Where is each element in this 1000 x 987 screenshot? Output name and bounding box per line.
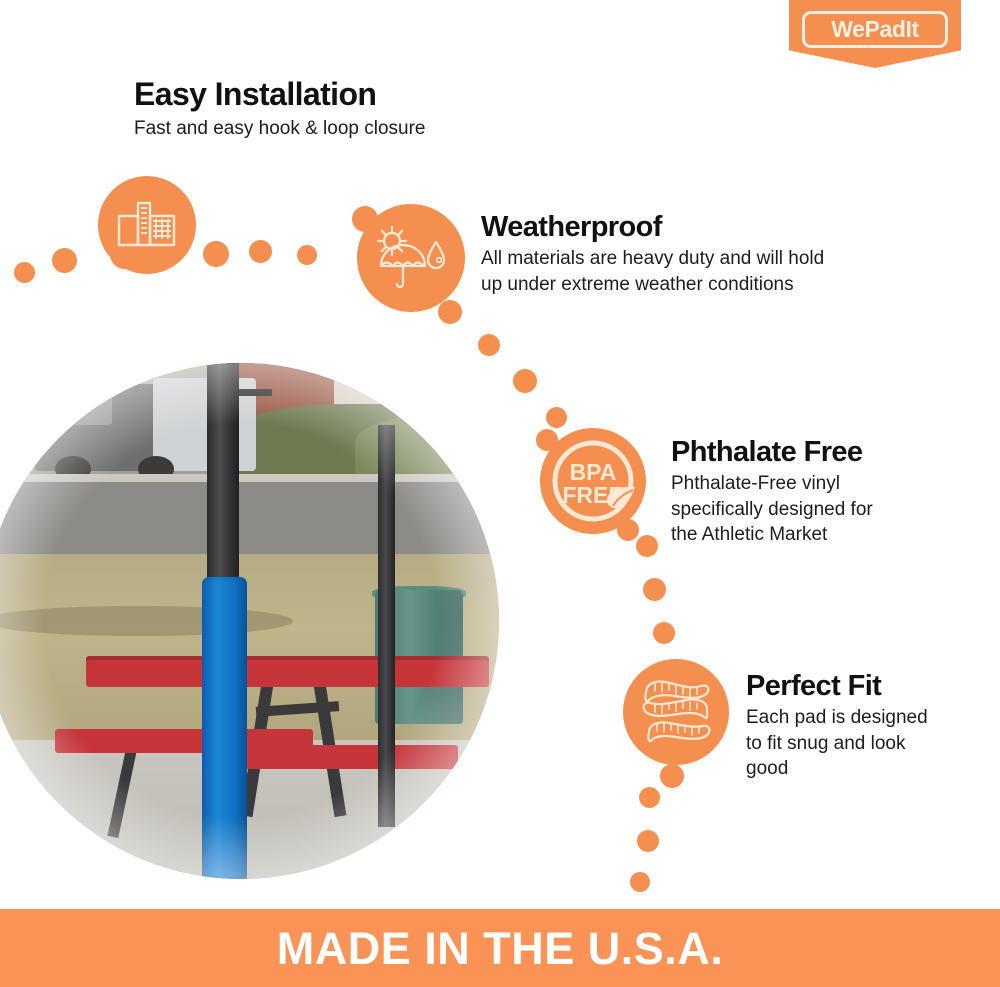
trail-dot [653,622,675,644]
product-feature-infographic: WePadIt Easy Installation Fast and easy … [0,0,1000,987]
feature-weatherproof: Weatherproof All materials are heavy dut… [481,212,824,297]
feature-title: Easy Installation [134,78,426,112]
icon-blob-bump [438,300,462,324]
feature-title: Phthalate Free [671,437,873,467]
brand-logo-badge: WePadIt [789,0,961,68]
photo-vignette [0,363,499,879]
feature-description-line-1: All materials are heavy duty and will ho… [481,246,824,271]
trail-dot [478,334,500,356]
bpa-free-leaf-icon: BPA FREE [540,428,646,534]
trail-dot [639,787,660,808]
trail-dot [643,578,666,601]
feature-description-line-1: Phthalate-Free vinyl [671,471,873,496]
made-in-usa-text: MADE IN THE U.S.A. [277,926,724,971]
feature-description: Fast and easy hook & loop closure [134,116,426,141]
feature-phthalate-free: Phthalate Free Phthalate-Free vinyl spec… [671,437,873,547]
trail-dot [546,407,567,428]
icon-blob-bump [660,764,684,788]
logo-outline: WePadIt [802,11,948,48]
trail-dot [636,535,658,557]
buildings-installation-icon [98,176,196,274]
feature-easy-installation: Easy Installation Fast and easy hook & l… [134,78,426,141]
trail-dot [203,241,229,267]
product-photo [0,363,499,879]
measuring-tape-icon [623,659,729,765]
trail-dot [513,369,537,393]
feature-description-line-3: the Athletic Market [671,522,873,547]
trail-dot [249,240,272,263]
feature-description-line-1: Each pad is designed [746,705,928,730]
trail-dot [52,248,77,273]
feature-description-line-2: up under extreme weather conditions [481,272,824,297]
feature-description-line-2: to fit snug and look [746,731,928,756]
feature-description-line-3: good [746,756,928,781]
logo-text: WePadIt [805,14,945,45]
made-in-usa-banner: MADE IN THE U.S.A. [0,909,1000,987]
sun-umbrella-raindrop-icon [357,204,465,312]
trail-dot [14,262,35,283]
feature-perfect-fit: Perfect Fit Each pad is designed to fit … [746,671,928,781]
feature-title: Weatherproof [481,212,824,242]
feature-title: Perfect Fit [746,671,928,701]
trail-dot [637,830,659,852]
trail-dot [630,872,650,892]
trail-dot [297,245,317,265]
feature-description-line-2: specifically designed for [671,497,873,522]
